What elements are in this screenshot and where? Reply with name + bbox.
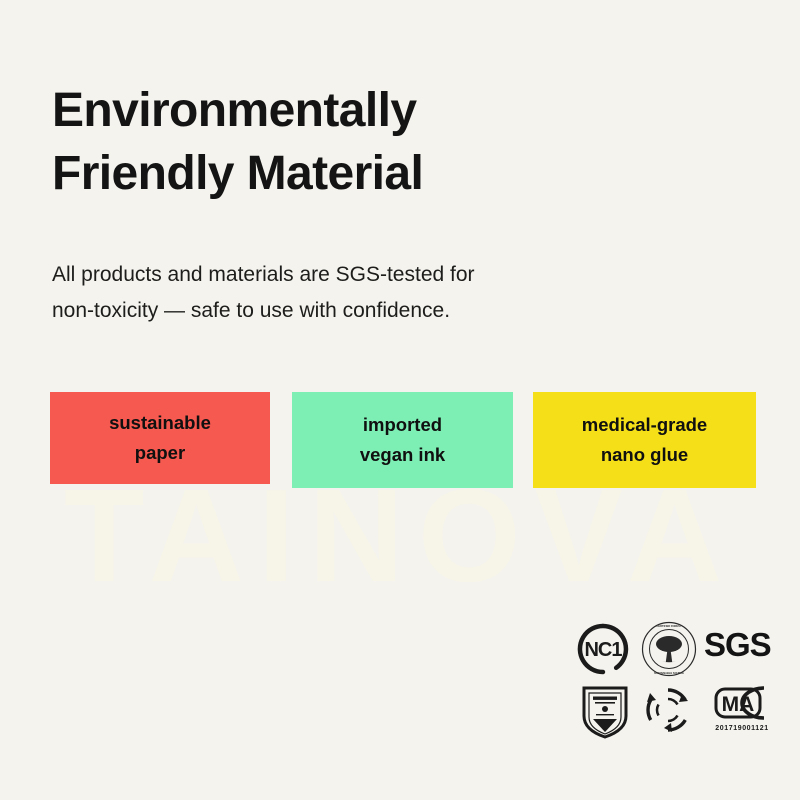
material-badge-sustainable-paper: sustainable paper	[50, 392, 270, 484]
cma-certification-number: 201719001121	[702, 725, 782, 732]
forest-seal-certification-icon: CERTIFIED FOREST SUSTAINABLE SOURCE	[640, 620, 698, 678]
cma-certification-icon: MA 201719001121	[702, 682, 782, 732]
recycle-certification-icon	[642, 684, 694, 736]
material-badge-line-1: medical-grade	[582, 410, 707, 440]
svg-text:NC1: NC1	[584, 639, 622, 661]
sgs-certification-icon: SGS	[704, 628, 771, 661]
poster-canvas: TAINOVA Environmentally Friendly Materia…	[0, 0, 800, 800]
nc1-certification-icon: NC1	[576, 622, 630, 676]
page-title-line-1: Environmentally	[52, 80, 752, 142]
svg-text:CERTIFIED FOREST: CERTIFIED FOREST	[657, 624, 682, 628]
material-badge-line-2: paper	[135, 438, 185, 468]
material-badge-group: sustainable paper imported vegan ink med…	[50, 392, 756, 488]
page-subtitle: All products and materials are SGS-teste…	[52, 257, 672, 329]
material-badge-line-2: nano glue	[601, 440, 688, 470]
page-title: Environmentally Friendly Material	[52, 80, 752, 205]
shield-certification-icon	[580, 684, 630, 740]
material-badge-imported-vegan-ink: imported vegan ink	[292, 392, 513, 488]
svg-text:MA: MA	[722, 693, 755, 716]
brand-watermark: TAINOVA	[0, 470, 800, 602]
material-badge-medical-grade-nano-glue: medical-grade nano glue	[533, 392, 756, 488]
page-subtitle-line-1: All products and materials are SGS-teste…	[52, 257, 672, 293]
material-badge-line-1: imported	[363, 410, 442, 440]
svg-text:SUSTAINABLE SOURCE: SUSTAINABLE SOURCE	[654, 671, 684, 675]
material-badge-line-2: vegan ink	[360, 440, 445, 470]
page-title-line-2: Friendly Material	[52, 143, 752, 205]
page-subtitle-line-2: non-toxicity — safe to use with confiden…	[52, 293, 672, 329]
material-badge-line-1: sustainable	[109, 408, 211, 438]
certification-logo-group: NC1 CERTIFIED FOREST SUSTAINABLE SOURCE	[574, 620, 786, 744]
sgs-certification-label: SGS	[704, 628, 771, 661]
